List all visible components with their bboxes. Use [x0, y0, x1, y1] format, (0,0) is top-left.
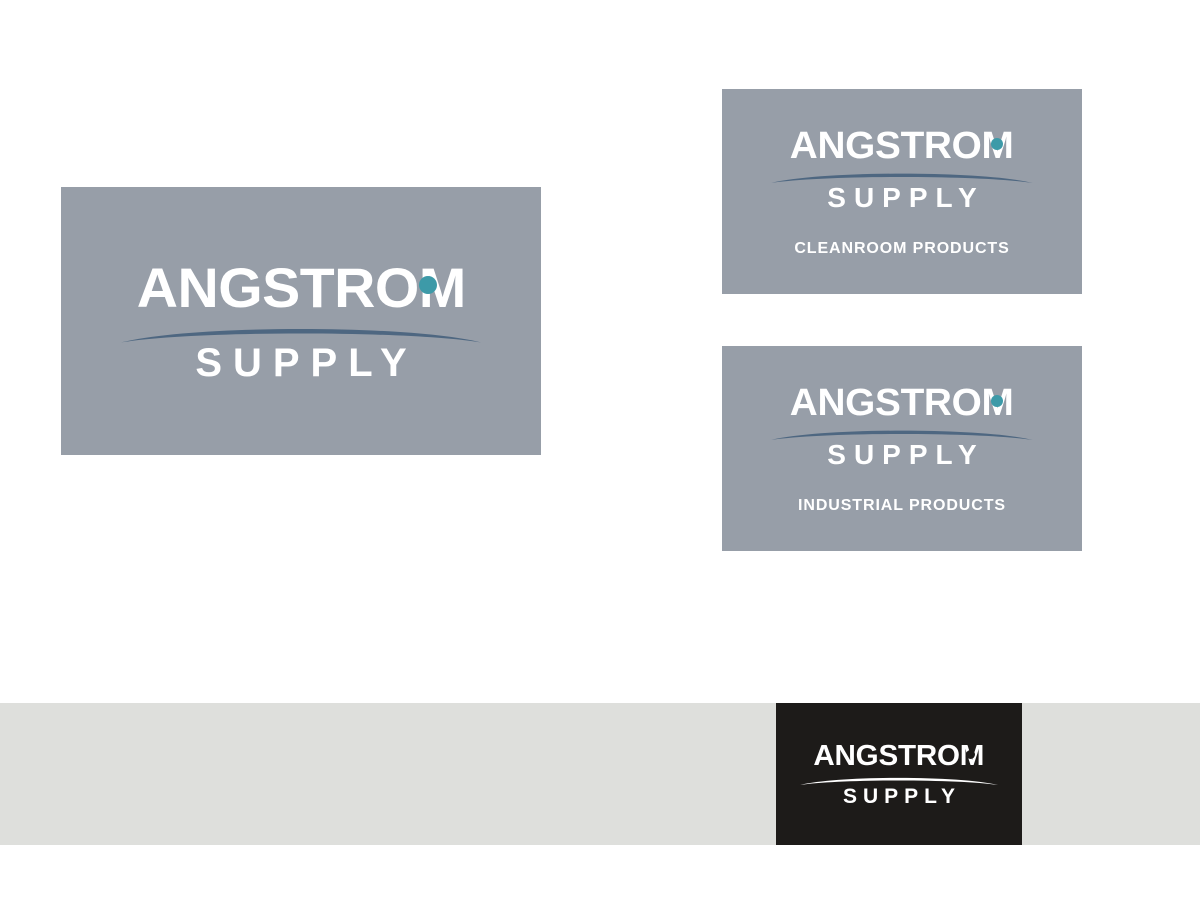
cleanroom-logo-lockup: ANGSTROM SUPPLY CLEANROOM PRODUCTS	[771, 127, 1033, 257]
wordmark-angstrom: ANGSTROM	[790, 384, 1014, 422]
primary-logo-panel: ANGSTROM SUPPLY	[61, 187, 541, 455]
primary-logo-lockup: ANGSTROM SUPPLY	[121, 260, 481, 383]
swoosh-icon	[771, 166, 1033, 184]
wordmark-angstrom: ANGSTROM	[814, 742, 985, 771]
wordmark-supply: SUPPLY	[837, 786, 961, 807]
reversed-logo-panel: ANGSTROM SUPPLY	[776, 703, 1022, 845]
wordmark-supply: SUPPLY	[184, 343, 417, 383]
reversed-logo-lockup: ANGSTROM SUPPLY	[800, 742, 998, 807]
logo-presentation-canvas: ANGSTROM SUPPLY ANGSTROM SUPPLY CLEANROO…	[0, 0, 1200, 900]
wordmark-supply: SUPPLY	[819, 184, 984, 212]
cleanroom-logo-panel: ANGSTROM SUPPLY CLEANROOM PRODUCTS	[722, 89, 1082, 294]
tagline-industrial: INDUSTRIAL PRODUCTS	[798, 498, 1006, 514]
industrial-logo-panel: ANGSTROM SUPPLY INDUSTRIAL PRODUCTS	[722, 346, 1082, 551]
wordmark-supply: SUPPLY	[819, 441, 984, 469]
swoosh-icon	[771, 423, 1033, 441]
swoosh-icon	[121, 318, 481, 344]
wordmark-angstrom: ANGSTROM	[136, 260, 465, 316]
industrial-logo-lockup: ANGSTROM SUPPLY INDUSTRIAL PRODUCTS	[771, 384, 1033, 514]
swoosh-icon	[800, 772, 998, 786]
tagline-cleanroom: CLEANROOM PRODUCTS	[794, 241, 1009, 257]
wordmark-angstrom: ANGSTROM	[790, 127, 1014, 165]
